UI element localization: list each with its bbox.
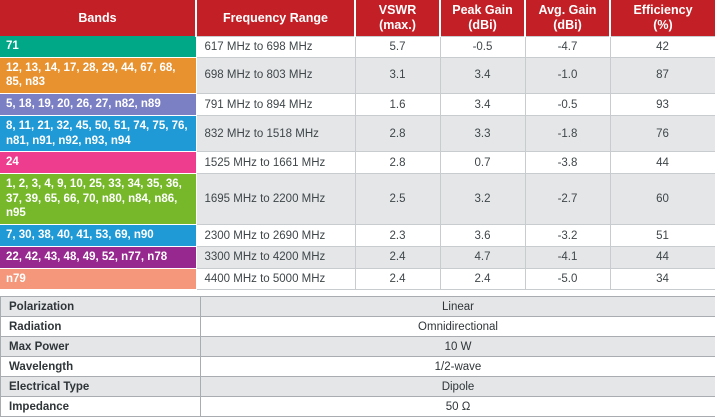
spec-value: 1/2-wave [201,357,715,377]
spec-label: Radiation [1,317,201,337]
peak-gain-cell: 3.3 [440,115,525,151]
spec-row: Electrical TypeDipole [1,377,715,397]
table-row: 22, 42, 43, 48, 49, 52, n77, n783300 MHz… [0,246,715,268]
column-header-efficiency-line2: (%) [653,18,672,32]
table-row: 241525 MHz to 1661 MHz2.80.7-3.844 [0,152,715,174]
avg-gain-cell: -3.2 [525,225,610,247]
avg-gain-cell: -4.7 [525,36,610,57]
frequency-range-cell: 1525 MHz to 1661 MHz [196,152,355,174]
frequency-range-cell: 832 MHz to 1518 MHz [196,115,355,151]
peak-gain-cell: 4.7 [440,246,525,268]
vswr-cell: 2.8 [355,115,440,151]
vswr-cell: 5.7 [355,36,440,57]
column-header-vswr-line1: VSWR [379,3,417,17]
frequency-range-cell: 617 MHz to 698 MHz [196,36,355,57]
frequency-range-cell: 4400 MHz to 5000 MHz [196,268,355,290]
spec-row: PolarizationLinear [1,297,715,317]
spec-value: Linear [201,297,715,317]
peak-gain-cell: 3.4 [440,57,525,93]
spec-row: Wavelength1/2-wave [1,357,715,377]
peak-gain-cell: 3.6 [440,225,525,247]
efficiency-cell: 44 [610,152,715,174]
peak-gain-cell: 3.2 [440,174,525,225]
spec-label: Max Power [1,337,201,357]
efficiency-cell: 76 [610,115,715,151]
efficiency-cell: 60 [610,174,715,225]
peak-gain-cell: 2.4 [440,268,525,290]
band-list-cell: 8, 11, 21, 32, 45, 50, 51, 74, 75, 76, n… [0,115,196,151]
avg-gain-cell: -4.1 [525,246,610,268]
spec-row: RadiationOmnidirectional [1,317,715,337]
spec-label: Polarization [1,297,201,317]
spec-value: Dipole [201,377,715,397]
column-header-bands: Bands [0,0,196,36]
band-list-cell: 5, 18, 19, 20, 26, 27, n82, n89 [0,94,196,116]
band-list-cell: 71 [0,36,196,57]
band-list-cell: 24 [0,152,196,174]
peak-gain-cell: 0.7 [440,152,525,174]
antenna-specs-table: PolarizationLinearRadiationOmnidirection… [0,296,715,417]
vswr-cell: 2.3 [355,225,440,247]
spec-value: 10 W [201,337,715,357]
spec-value: 50 Ω [201,397,715,417]
column-header-avg-gain-line2: (dBi) [553,18,581,32]
column-header-frequency-range: Frequency Range [196,0,355,36]
vswr-cell: 2.5 [355,174,440,225]
frequency-range-cell: 698 MHz to 803 MHz [196,57,355,93]
table-row: 12, 13, 14, 17, 28, 29, 44, 67, 68, 85, … [0,57,715,93]
column-header-avg-gain-line1: Avg. Gain [539,3,597,17]
specs-body: PolarizationLinearRadiationOmnidirection… [1,297,715,417]
efficiency-cell: 42 [610,36,715,57]
table-row: 5, 18, 19, 20, 26, 27, n82, n89791 MHz t… [0,94,715,116]
column-header-efficiency-line1: Efficiency [633,3,692,17]
peak-gain-cell: -0.5 [440,36,525,57]
spec-row: Max Power10 W [1,337,715,357]
table-row: 1, 2, 3, 4, 9, 10, 25, 33, 34, 35, 36, 3… [0,174,715,225]
column-header-peak-gain-line2: (dBi) [468,18,496,32]
table-header: Bands Frequency Range VSWR (max.) Peak G… [0,0,715,36]
header-row: Bands Frequency Range VSWR (max.) Peak G… [0,0,715,36]
spec-sheet: Bands Frequency Range VSWR (max.) Peak G… [0,0,715,405]
table-row: n794400 MHz to 5000 MHz2.42.4-5.034 [0,268,715,290]
peak-gain-cell: 3.4 [440,94,525,116]
column-header-efficiency: Efficiency (%) [610,0,715,36]
table-row: 8, 11, 21, 32, 45, 50, 51, 74, 75, 76, n… [0,115,715,151]
efficiency-cell: 44 [610,246,715,268]
table-row: 7, 30, 38, 40, 41, 53, 69, n902300 MHz t… [0,225,715,247]
efficiency-cell: 51 [610,225,715,247]
efficiency-cell: 93 [610,94,715,116]
band-list-cell: 12, 13, 14, 17, 28, 29, 44, 67, 68, 85, … [0,57,196,93]
table-body: 71617 MHz to 698 MHz5.7-0.5-4.74212, 13,… [0,36,715,290]
vswr-cell: 2.4 [355,246,440,268]
avg-gain-cell: -0.5 [525,94,610,116]
avg-gain-cell: -5.0 [525,268,610,290]
column-header-avg-gain: Avg. Gain (dBi) [525,0,610,36]
frequency-range-cell: 3300 MHz to 4200 MHz [196,246,355,268]
band-performance-table: Bands Frequency Range VSWR (max.) Peak G… [0,0,715,290]
avg-gain-cell: -1.0 [525,57,610,93]
frequency-range-cell: 1695 MHz to 2200 MHz [196,174,355,225]
band-list-cell: 1, 2, 3, 4, 9, 10, 25, 33, 34, 35, 36, 3… [0,174,196,225]
column-header-vswr-line2: (max.) [379,18,416,32]
vswr-cell: 3.1 [355,57,440,93]
band-list-cell: 22, 42, 43, 48, 49, 52, n77, n78 [0,246,196,268]
band-list-cell: n79 [0,268,196,290]
table-row: 71617 MHz to 698 MHz5.7-0.5-4.742 [0,36,715,57]
vswr-cell: 2.8 [355,152,440,174]
spec-label: Impedance [1,397,201,417]
efficiency-cell: 34 [610,268,715,290]
efficiency-cell: 87 [610,57,715,93]
spec-label: Wavelength [1,357,201,377]
column-header-peak-gain-line1: Peak Gain [452,3,512,17]
avg-gain-cell: -3.8 [525,152,610,174]
avg-gain-cell: -1.8 [525,115,610,151]
vswr-cell: 2.4 [355,268,440,290]
column-header-vswr: VSWR (max.) [355,0,440,36]
frequency-range-cell: 2300 MHz to 2690 MHz [196,225,355,247]
vswr-cell: 1.6 [355,94,440,116]
column-header-peak-gain: Peak Gain (dBi) [440,0,525,36]
avg-gain-cell: -2.7 [525,174,610,225]
spec-label: Electrical Type [1,377,201,397]
frequency-range-cell: 791 MHz to 894 MHz [196,94,355,116]
band-list-cell: 7, 30, 38, 40, 41, 53, 69, n90 [0,225,196,247]
spec-row: Impedance50 Ω [1,397,715,417]
spec-value: Omnidirectional [201,317,715,337]
